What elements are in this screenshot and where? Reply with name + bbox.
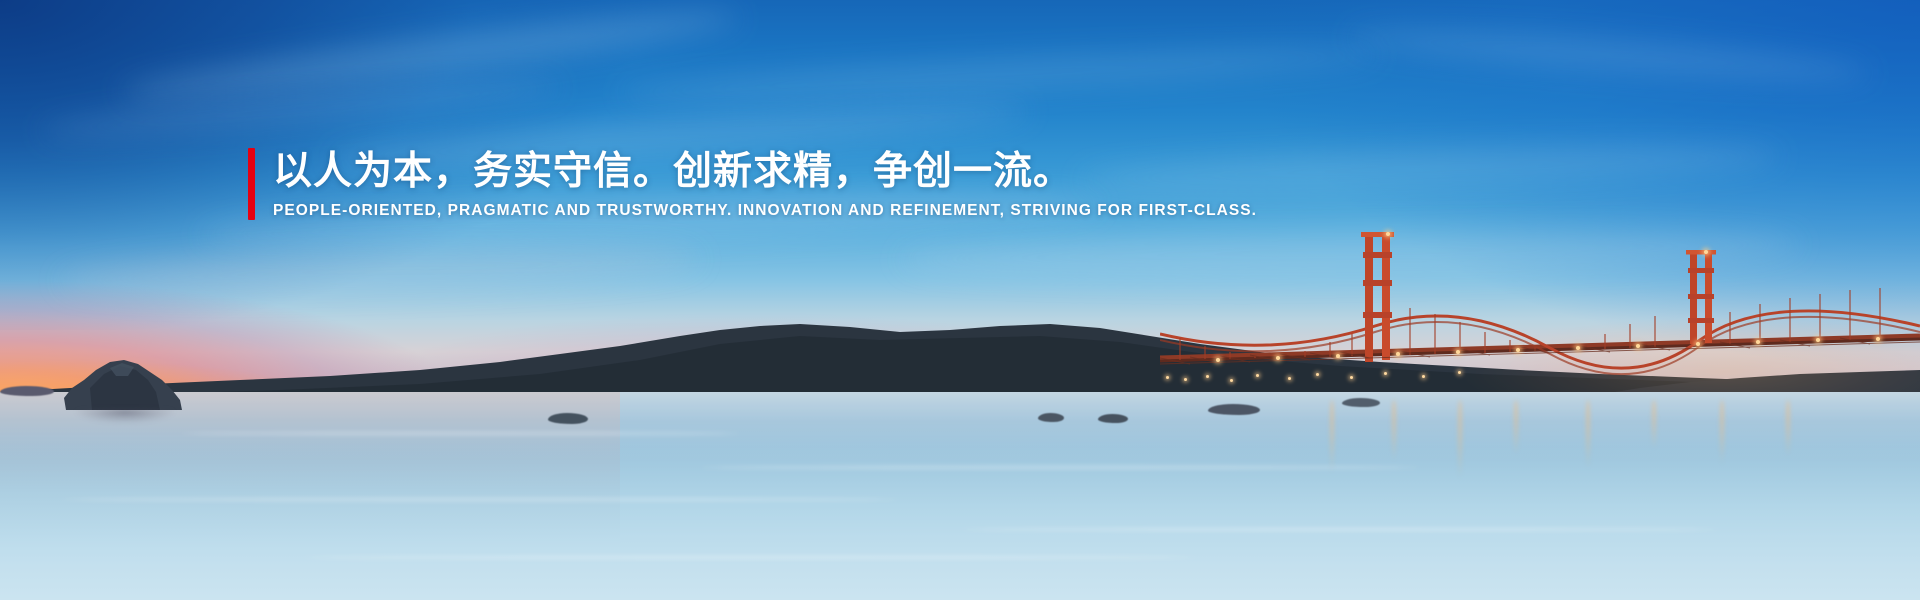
water-rock — [1038, 413, 1064, 422]
slogan-block: 以人为本，务实守信。创新求精，争创一流。 PEOPLE-ORIENTED, PR… — [248, 148, 1257, 220]
water-ripple — [700, 466, 1420, 469]
tower-beacon — [1386, 232, 1390, 236]
water-rock — [1098, 414, 1128, 423]
slogan-subtitle: PEOPLE-ORIENTED, PRAGMATIC AND TRUSTWORT… — [273, 202, 1257, 220]
bridge-lamp — [1216, 358, 1220, 362]
bridge-lamp — [1336, 354, 1340, 358]
bridge-lamp — [1276, 356, 1280, 360]
bridge-lamp — [1876, 337, 1880, 341]
water-rock — [1342, 398, 1380, 407]
bridge-lamp — [1636, 344, 1640, 348]
bridge-lamp — [1696, 342, 1700, 346]
water-ripple — [300, 556, 1200, 559]
hero-banner: 以人为本，务实守信。创新求精，争创一流。 PEOPLE-ORIENTED, PR… — [0, 0, 1920, 600]
slogan-headline: 以人为本，务实守信。创新求精，争创一流。 — [273, 148, 1257, 196]
bridge-lamp — [1456, 350, 1460, 354]
water-rock — [1208, 404, 1260, 415]
water-highlight — [0, 392, 1920, 462]
bridge-lamp — [1396, 352, 1400, 356]
water-rock — [0, 386, 54, 396]
bridge-lamp — [1756, 340, 1760, 344]
bridge-lamp — [1816, 338, 1820, 342]
bridge-lamp — [1516, 348, 1520, 352]
water-rock — [548, 413, 588, 424]
water-ripple — [60, 498, 900, 501]
red-accent-bar — [248, 148, 255, 220]
foreground-rock — [62, 358, 184, 410]
tower-beacon — [1704, 250, 1708, 254]
bridge-lamp — [1576, 346, 1580, 350]
distant-shore-lights — [1160, 368, 1490, 390]
water-ripple — [180, 432, 740, 435]
rock-reflection — [66, 409, 184, 435]
slogan-text-lines: 以人为本，务实守信。创新求精，争创一流。 PEOPLE-ORIENTED, PR… — [273, 148, 1257, 220]
water-ripple — [960, 528, 1720, 531]
